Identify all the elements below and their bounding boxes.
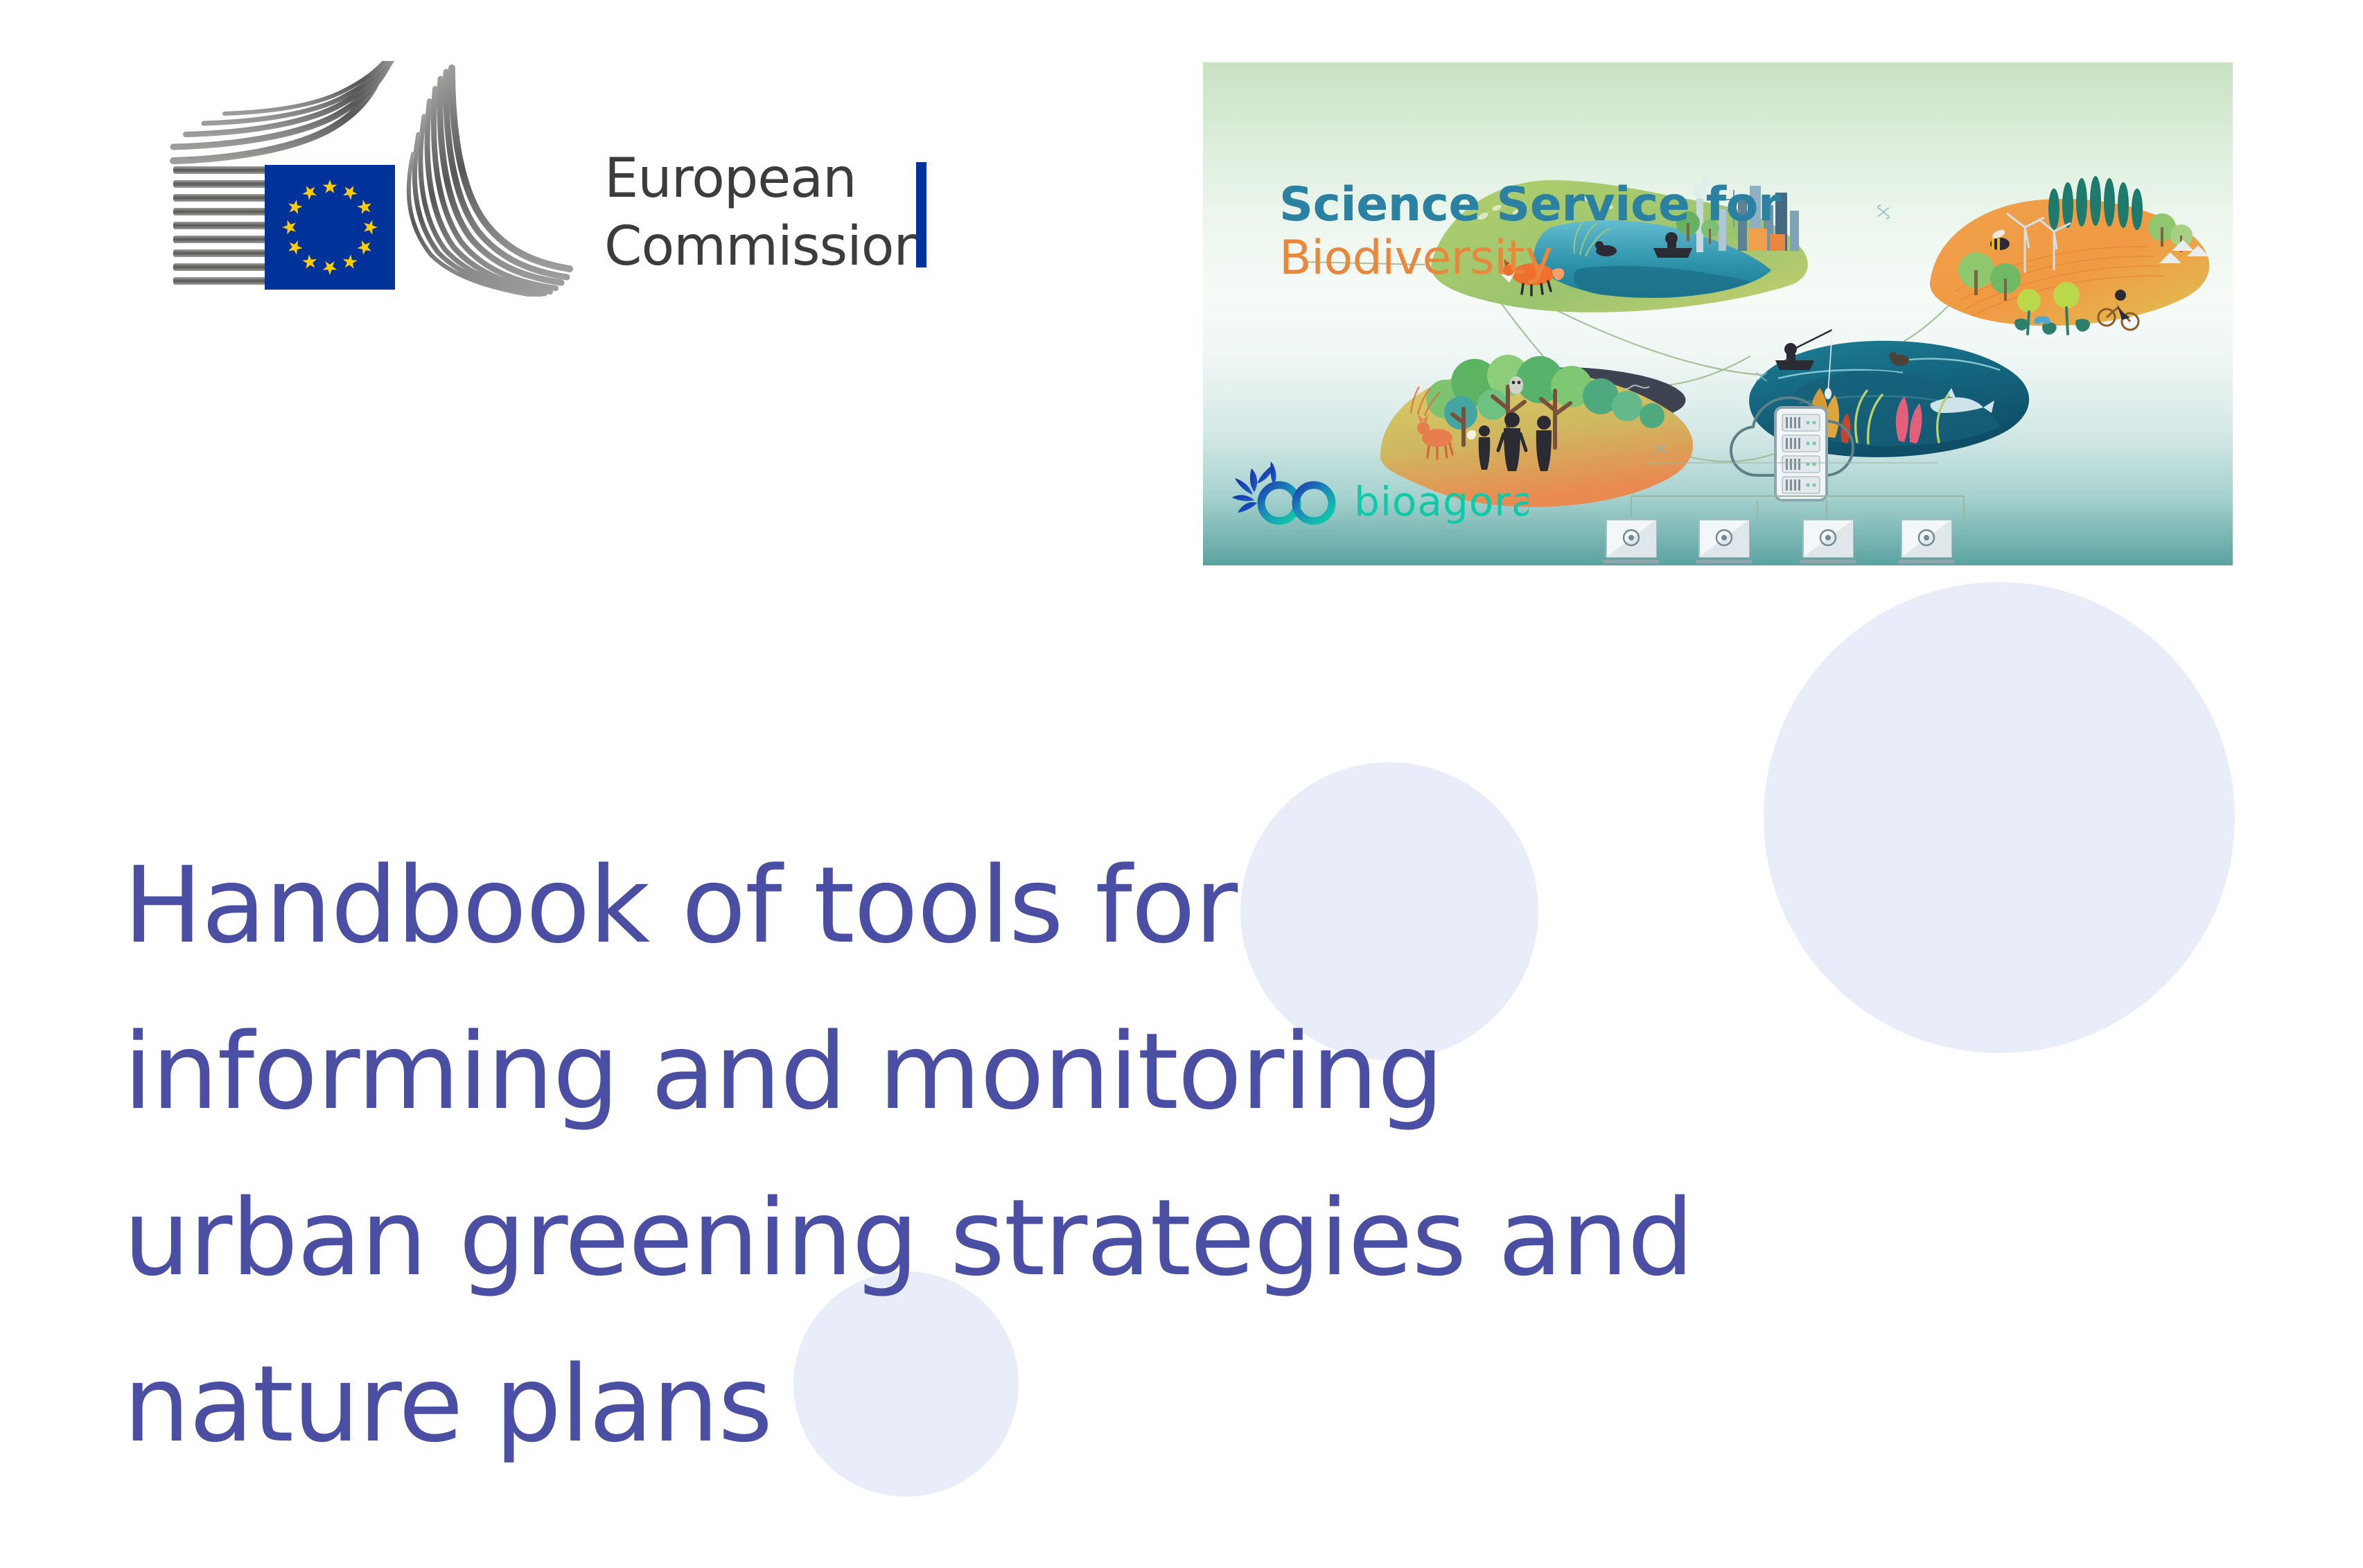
data-nodes bbox=[1604, 520, 1954, 563]
eu-building-left-bars bbox=[173, 166, 281, 285]
eu-building-right-sweeps bbox=[409, 68, 570, 296]
island-farmland bbox=[1930, 176, 2209, 335]
eu-building-left-sweeps bbox=[173, 61, 394, 161]
page-title-line-2: informing and monitoring bbox=[123, 989, 2168, 1155]
bioagora-monogram bbox=[1261, 475, 1332, 521]
bioagora-logo: bioagora bbox=[1231, 460, 1529, 538]
eu-flag bbox=[265, 165, 395, 290]
page-title-line-3: urban greening strategies and bbox=[123, 1155, 2168, 1321]
eu-logo-line2: Commission bbox=[604, 215, 927, 278]
banner-headline: Science Service for Biodiversity bbox=[1279, 179, 1781, 285]
page-title: Handbook of tools for informing and moni… bbox=[123, 822, 2168, 1488]
eu-logo-line1: European bbox=[604, 148, 857, 210]
cover-page: European Commission bbox=[0, 0, 2363, 1568]
page-title-line-1: Handbook of tools for bbox=[123, 822, 2168, 989]
banner-headline-line1: Science Service for bbox=[1279, 179, 1781, 232]
bioagora-wordmark: bioagora bbox=[1354, 478, 1529, 525]
eu-logo-accent-bar bbox=[916, 162, 926, 267]
banner-headline-line2: Biodiversity bbox=[1279, 232, 1781, 285]
owl bbox=[1509, 376, 1523, 394]
bioagora-banner: Science Service for Biodiversity bbox=[1203, 62, 2233, 565]
european-commission-logo: European Commission bbox=[161, 61, 958, 297]
page-title-line-4: nature plans bbox=[123, 1321, 2168, 1488]
